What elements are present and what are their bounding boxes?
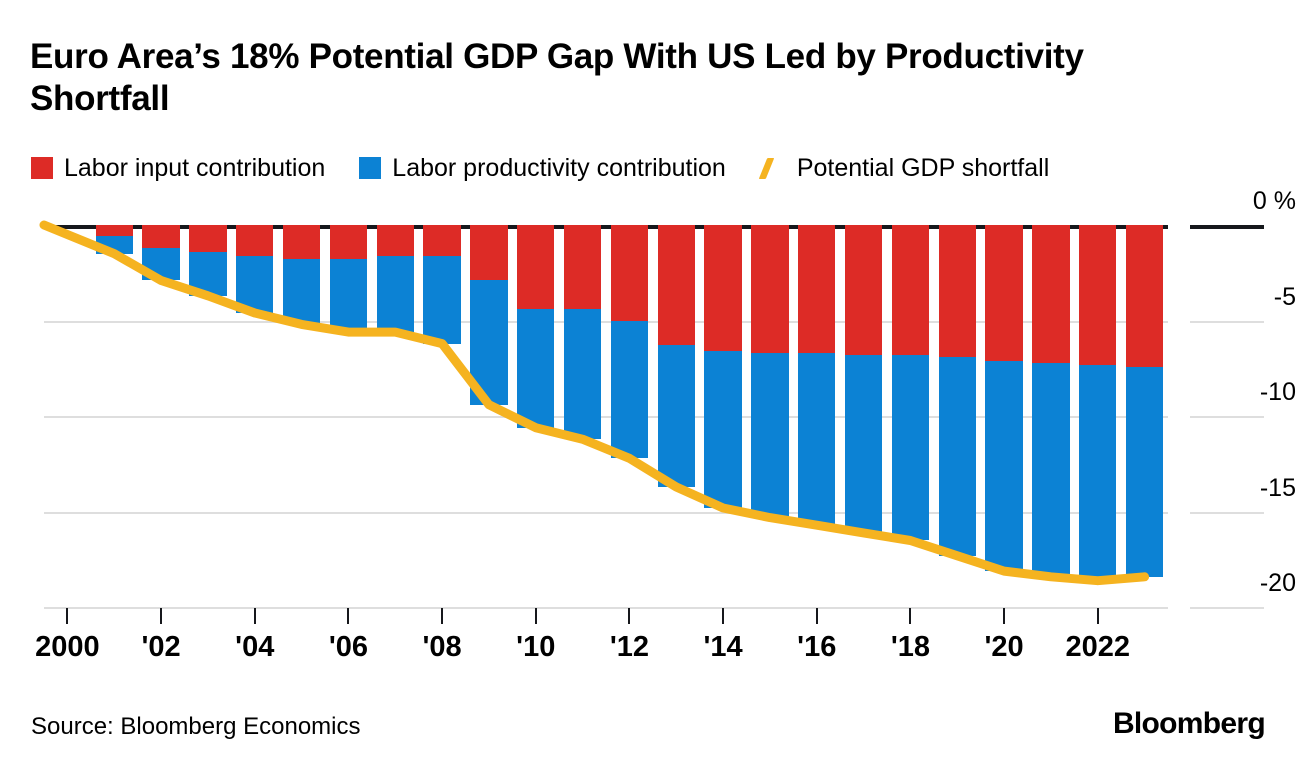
bloomberg-logo: Bloomberg [1113,708,1265,740]
x-axis-tick [347,608,349,624]
chart-container: Euro Area’s 18% Potential GDP Gap With U… [0,0,1296,772]
potential-gdp-shortfall-line [44,219,1168,619]
x-axis-label: '08 [423,632,462,663]
y-axis-tick [1190,416,1264,418]
legend-swatch-red [31,157,53,179]
x-axis-label: '12 [610,632,649,663]
x-axis-label: '18 [891,632,930,663]
x-axis-tick [1003,608,1005,624]
x-axis-tick [628,608,630,624]
x-axis-label: '14 [704,632,743,663]
y-axis-label: -15 [1178,476,1296,501]
x-axis-tick [441,608,443,624]
x-axis-label: '02 [142,632,181,663]
y-axis-tick [1190,512,1264,514]
y-axis-label: -20 [1178,571,1296,596]
x-axis-label: '06 [329,632,368,663]
x-axis-tick [535,608,537,624]
x-axis-label: '10 [516,632,555,663]
x-axis-label: '04 [235,632,274,663]
y-axis-tick [1190,321,1264,323]
x-axis-tick [722,608,724,624]
x-axis-tick [66,608,68,624]
legend-label-labor-input: Labor input contribution [64,156,325,181]
x-axis: 2000'02'04'06'08'10'12'14'16'18'202022 [44,608,1168,678]
x-axis-tick [816,608,818,624]
x-axis-label: '16 [797,632,836,663]
legend-item-potential-gdp-shortfall: Potential GDP shortfall [760,156,1049,181]
chart-legend: Labor input contribution Labor productiv… [31,150,1083,186]
legend-line-icon [760,157,786,179]
x-axis-label: 2000 [35,632,100,663]
x-axis-tick [909,608,911,624]
x-axis-tick [160,608,162,624]
y-axis-tick [1190,225,1264,229]
x-axis-tick [254,608,256,624]
x-axis-label: '20 [985,632,1024,663]
legend-item-labor-input: Labor input contribution [31,156,325,181]
legend-item-labor-productivity: Labor productivity contribution [359,156,726,181]
y-axis-label: -10 [1178,380,1296,405]
legend-label-labor-productivity: Labor productivity contribution [392,156,726,181]
x-axis-label: 2022 [1065,632,1130,663]
chart-title: Euro Area’s 18% Potential GDP Gap With U… [30,36,1190,120]
plot-area [44,225,1168,617]
source-note: Source: Bloomberg Economics [31,714,360,740]
y-axis-label: 0 % [1178,189,1296,214]
x-axis-tick [1097,608,1099,624]
y-axis-label: -5 [1178,285,1296,310]
legend-label-potential-gdp: Potential GDP shortfall [797,156,1049,181]
y-axis-tick [1190,607,1264,609]
legend-swatch-blue [359,157,381,179]
